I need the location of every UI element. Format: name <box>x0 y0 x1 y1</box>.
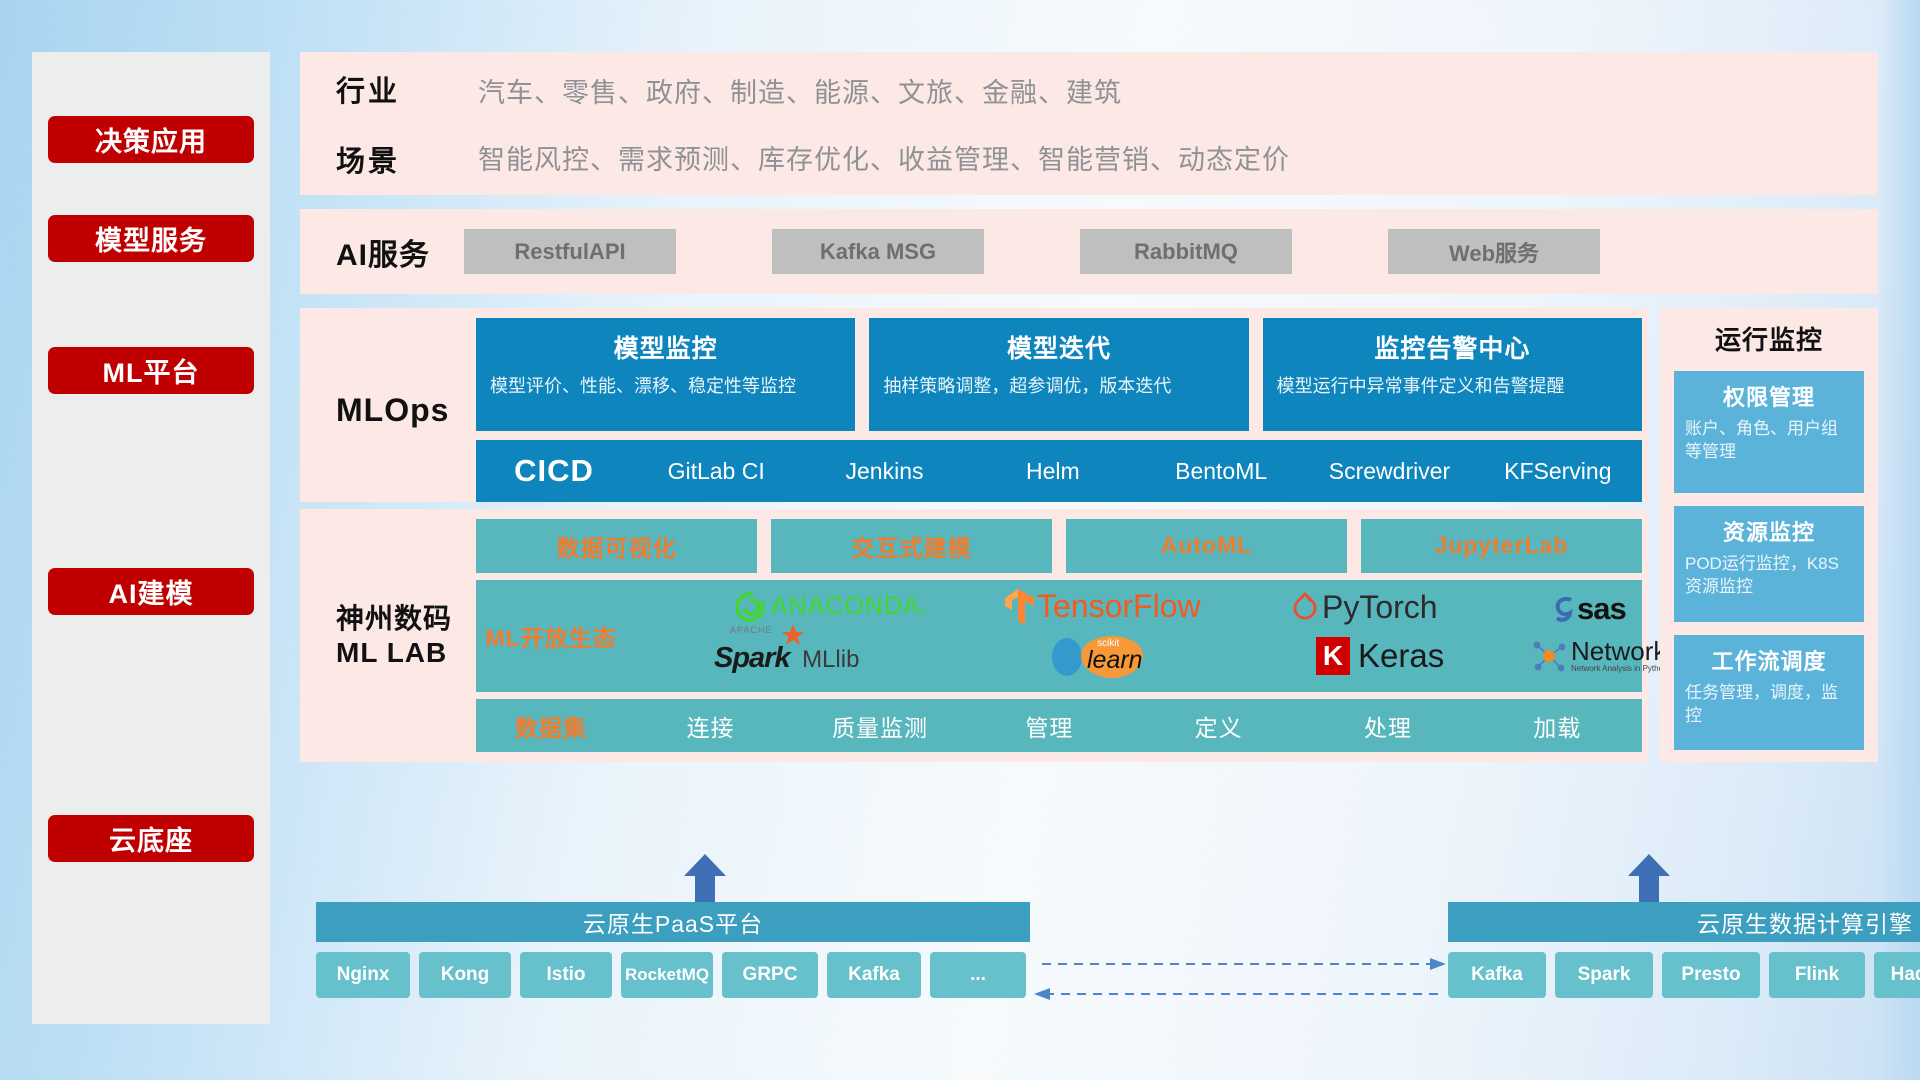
ml-lab-tab-row: 数据可视化 交互式建模 AutoML JupyterLab <box>476 519 1642 573</box>
rail-item-decision-app[interactable]: 决策应用 <box>48 116 254 163</box>
tech-chip-hadoop[interactable]: Hadoop <box>1874 952 1920 998</box>
ml-lab-band: 神州数码 ML LAB 数据可视化 交互式建模 AutoML JupyterLa… <box>300 509 1648 762</box>
spark-mllib-logo: APACHE Spark MLlib <box>714 642 859 675</box>
tensorflow-logo: TensorFlow <box>1001 588 1201 626</box>
runtime-monitoring-panel: 运行监控 权限管理 账户、角色、用户组等管理 资源监控 POD运行监控，K8S资… <box>1660 308 1878 762</box>
cicd-item-gitlab-ci[interactable]: GitLab CI <box>632 460 800 483</box>
monitor-card-desc: POD运行监控，K8S资源监控 <box>1685 553 1853 599</box>
rail-item-ai-modeling[interactable]: AI建模 <box>48 568 254 615</box>
scenario-list: 智能风控、需求预测、库存优化、收益管理、智能营销、动态定价 <box>478 138 1290 177</box>
tech-chip-istio[interactable]: Istio <box>520 952 612 998</box>
cloud-foundation-area: 云原生PaaS平台 云原生数据计算引擎 Nginx Kong Istio Roc… <box>300 880 1878 1024</box>
dataset-item-management[interactable]: 管理 <box>965 709 1134 743</box>
mlops-card-title: 模型迭代 <box>883 329 1234 365</box>
cicd-bar: CICD GitLab CI Jenkins Helm BentoML Scre… <box>476 440 1642 502</box>
ml-open-ecosystem-label: ML开放生态 <box>476 619 626 653</box>
rail-item-label: AI建模 <box>109 572 194 611</box>
monitor-card-resource-monitoring[interactable]: 资源监控 POD运行监控，K8S资源监控 <box>1674 506 1864 622</box>
pytorch-wordmark: PyTorch <box>1322 589 1438 626</box>
ml-lab-tab-data-visualization[interactable]: 数据可视化 <box>476 519 757 573</box>
tech-chip-kafka-data[interactable]: Kafka <box>1448 952 1546 998</box>
ml-lab-tab-interactive-modeling[interactable]: 交互式建模 <box>771 519 1052 573</box>
data-engine-tech-chip-row: Kafka Spark Presto Flink Hadoop Storm ..… <box>1448 952 1920 998</box>
keras-wordmark: Keras <box>1358 637 1444 675</box>
mlops-card-desc: 模型运行中异常事件定义和告警提醒 <box>1277 374 1628 398</box>
scenario-label: 场景 <box>336 138 454 180</box>
layer-rail: 决策应用 模型服务 ML平台 AI建模 云底座 <box>32 52 270 1024</box>
mlops-band: MLOps 模型监控 模型评价、性能、漂移、稳定性等监控 模型迭代 抽样策略调整… <box>300 308 1648 502</box>
cicd-item-kfserving[interactable]: KFServing <box>1474 460 1642 483</box>
industry-scenario-values: 汽车、零售、政府、制造、能源、文旅、金融、建筑 智能风控、需求预测、库存优化、收… <box>478 71 1290 177</box>
mlops-card-alert-center[interactable]: 监控告警中心 模型运行中异常事件定义和告警提醒 <box>1263 318 1642 431</box>
monitor-card-desc: 账户、角色、用户组等管理 <box>1685 418 1853 464</box>
mlops-card-title: 模型监控 <box>490 329 841 365</box>
tech-chip-nginx[interactable]: Nginx <box>316 952 410 998</box>
rail-item-cloud-base[interactable]: 云底座 <box>48 815 254 862</box>
ai-service-label: AI服务 <box>336 230 464 274</box>
tech-chip-flink[interactable]: Flink <box>1769 952 1865 998</box>
cicd-item-helm[interactable]: Helm <box>969 460 1137 483</box>
ai-service-chip-row: RestfulAPI Kafka MSG RabbitMQ Web服务 <box>464 229 1878 274</box>
cloud-data-engine-header: 云原生数据计算引擎 <box>1448 902 1920 942</box>
tech-chip-rocketmq[interactable]: RocketMQ <box>621 952 713 998</box>
anaconda-mark-icon <box>736 592 766 622</box>
ml-lab-tab-automl[interactable]: AutoML <box>1066 519 1347 573</box>
mlops-card-desc: 抽样策略调整，超参调优，版本迭代 <box>883 374 1234 398</box>
mlops-card-row: 模型监控 模型评价、性能、漂移、稳定性等监控 模型迭代 抽样策略调整，超参调优，… <box>476 318 1642 431</box>
monitor-card-desc: 任务管理，调度，监控 <box>1685 682 1853 728</box>
tech-chip-grpc[interactable]: GRPC <box>722 952 818 998</box>
monitor-card-title: 权限管理 <box>1685 380 1853 412</box>
up-arrow-data-engine-icon <box>1626 854 1672 904</box>
spark-apache-label: APACHE <box>730 625 772 635</box>
anaconda-wordmark: ANACONDA. <box>771 592 929 621</box>
ml-lab-content: 数据可视化 交互式建模 AutoML JupyterLab ML开放生态 ANA… <box>476 519 1648 752</box>
learn-wordmark: learn <box>1087 646 1143 675</box>
monitor-card-workflow-scheduling[interactable]: 工作流调度 任务管理，调度，监控 <box>1674 635 1864 750</box>
monitor-card-permission-management[interactable]: 权限管理 账户、角色、用户组等管理 <box>1674 371 1864 493</box>
tech-chip-spark[interactable]: Spark <box>1555 952 1653 998</box>
mlops-card-title: 监控告警中心 <box>1277 329 1628 365</box>
rail-item-label: 决策应用 <box>95 120 207 159</box>
dataset-item-loading[interactable]: 加载 <box>1473 709 1642 743</box>
networkx-mark-icon <box>1531 638 1567 674</box>
tech-chip-presto[interactable]: Presto <box>1662 952 1760 998</box>
rail-item-ml-platform[interactable]: ML平台 <box>48 347 254 394</box>
anaconda-logo: ANACONDA. <box>736 592 929 622</box>
monitor-card-title: 工作流调度 <box>1685 644 1853 676</box>
dataset-item-processing[interactable]: 处理 <box>1303 709 1472 743</box>
rail-item-model-service[interactable]: 模型服务 <box>48 215 254 262</box>
industry-label: 行业 <box>336 68 454 110</box>
dataset-row: 数据集 连接 质量监测 管理 定义 处理 加载 <box>476 699 1642 752</box>
ai-service-chip-restfulapi[interactable]: RestfulAPI <box>464 229 676 274</box>
industry-scenario-labels: 行业 场景 <box>336 68 454 180</box>
sas-logo: sas <box>1551 591 1626 627</box>
pytorch-mark-icon <box>1291 591 1319 623</box>
ml-lab-tab-jupyterlab[interactable]: JupyterLab <box>1361 519 1642 573</box>
mlops-card-desc: 模型评价、性能、漂移、稳定性等监控 <box>490 374 841 398</box>
keras-mark-icon: K <box>1316 637 1350 675</box>
scikit-learn-logo: scikit learn <box>1051 636 1097 678</box>
industry-list: 汽车、零售、政府、制造、能源、文旅、金融、建筑 <box>478 71 1290 110</box>
rail-item-label: 模型服务 <box>95 219 207 258</box>
mllib-wordmark: MLlib <box>802 646 859 673</box>
ml-open-ecosystem-logos: ANACONDA. TensorFlow <box>626 580 1642 693</box>
spark-star-icon <box>780 623 806 647</box>
tensorflow-mark-icon <box>1001 588 1035 626</box>
mlops-label: MLOps <box>336 318 476 502</box>
dataset-item-definition[interactable]: 定义 <box>1134 709 1303 743</box>
pytorch-logo: PyTorch <box>1291 589 1438 626</box>
bidirectional-dashed-connector <box>1034 954 1446 1002</box>
up-arrow-paas-icon <box>682 854 728 904</box>
dataset-item-quality-monitoring[interactable]: 质量监测 <box>795 709 964 743</box>
rail-item-label: ML平台 <box>103 351 200 390</box>
cicd-item-screwdriver[interactable]: Screwdriver <box>1305 460 1473 483</box>
mlops-content: 模型监控 模型评价、性能、漂移、稳定性等监控 模型迭代 抽样策略调整，超参调优，… <box>476 318 1648 502</box>
tensorflow-wordmark: TensorFlow <box>1037 588 1201 625</box>
monitor-card-title: 资源监控 <box>1685 515 1853 547</box>
sas-wordmark: sas <box>1577 591 1626 627</box>
dataset-item-connect[interactable]: 连接 <box>626 709 795 743</box>
tech-chip-kafka[interactable]: Kafka <box>827 952 921 998</box>
paas-tech-chip-row: Nginx Kong Istio RocketMQ GRPC Kafka ... <box>316 952 1035 998</box>
ml-lab-label-line1: 神州数码 <box>336 602 476 636</box>
mlops-card-model-iteration[interactable]: 模型迭代 抽样策略调整，超参调优，版本迭代 <box>869 318 1248 431</box>
tech-chip-more-paas[interactable]: ... <box>930 952 1026 998</box>
cloud-paas-header: 云原生PaaS平台 <box>316 902 1030 942</box>
ai-service-chip-rabbitmq[interactable]: RabbitMQ <box>1080 229 1292 274</box>
spark-wordmark: Spark <box>714 642 790 674</box>
cicd-item-jenkins[interactable]: Jenkins <box>800 460 968 483</box>
ml-lab-label-line2: ML LAB <box>336 636 476 670</box>
industry-scenario-band: 行业 场景 汽车、零售、政府、制造、能源、文旅、金融、建筑 智能风控、需求预测、… <box>300 52 1878 195</box>
sas-mark-icon <box>1551 594 1577 624</box>
cicd-item-bentoml[interactable]: BentoML <box>1137 460 1305 483</box>
ml-open-ecosystem-row: ML开放生态 ANACONDA. <box>476 580 1642 693</box>
tech-chip-kong[interactable]: Kong <box>419 952 511 998</box>
ai-service-band: AI服务 RestfulAPI Kafka MSG RabbitMQ Web服务 <box>300 209 1878 294</box>
dataset-label: 数据集 <box>476 709 626 743</box>
ai-service-chip-web-service[interactable]: Web服务 <box>1388 229 1600 274</box>
runtime-monitoring-title: 运行监控 <box>1674 320 1864 357</box>
keras-logo: K Keras <box>1316 637 1444 675</box>
ml-lab-label: 神州数码 ML LAB <box>336 519 476 752</box>
ai-service-chip-kafka-msg[interactable]: Kafka MSG <box>772 229 984 274</box>
cicd-title: CICD <box>476 453 632 489</box>
mlops-card-model-monitoring[interactable]: 模型监控 模型评价、性能、漂移、稳定性等监控 <box>476 318 855 431</box>
rail-item-label: 云底座 <box>109 819 193 858</box>
